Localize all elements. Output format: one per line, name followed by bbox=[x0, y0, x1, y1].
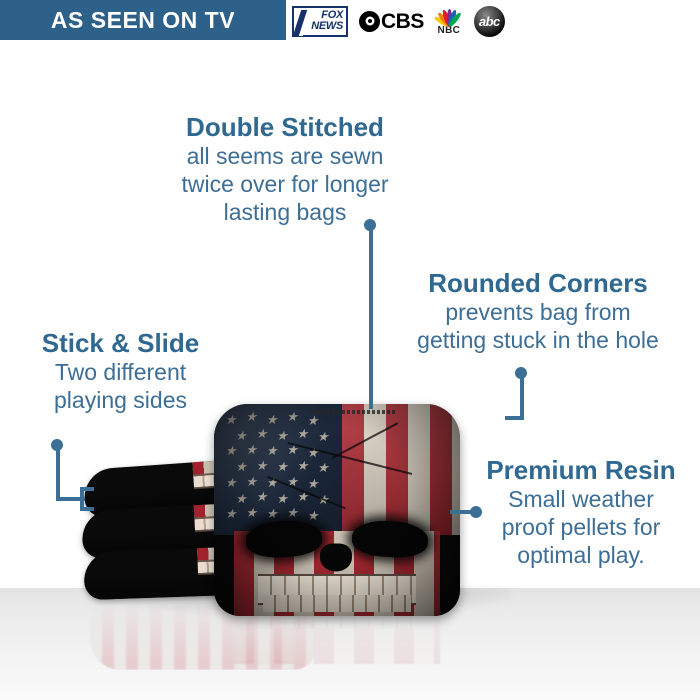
callout-stick-and-slide: Stick & Slide Two different playing side… bbox=[8, 328, 233, 414]
skull-lower-teeth bbox=[263, 595, 411, 612]
callout-body: all seems are sewn twice over for longer… bbox=[140, 142, 430, 226]
callout-body-line: getting stuck in the hole bbox=[382, 326, 694, 354]
flag-stars bbox=[214, 404, 342, 535]
callout-body-line: lasting bags bbox=[140, 198, 430, 226]
leader-segment bbox=[520, 375, 524, 420]
main-cornhole-bag bbox=[214, 404, 460, 616]
callout-heading: Premium Resin bbox=[465, 455, 697, 485]
bag-top-print bbox=[312, 410, 396, 414]
callout-body: prevents bag from getting stuck in the h… bbox=[382, 298, 694, 354]
callout-body-line: prevents bag from bbox=[382, 298, 694, 326]
leader-segment bbox=[56, 447, 60, 501]
skull-nose-cavity bbox=[320, 544, 352, 572]
leader-segment bbox=[505, 416, 523, 420]
leader-bracket-segment bbox=[80, 487, 94, 491]
callout-heading: Rounded Corners bbox=[382, 268, 694, 298]
flag-star-field bbox=[214, 404, 342, 535]
callout-body: Small weather proof pellets for optimal … bbox=[465, 485, 697, 569]
callout-premium-resin: Premium Resin Small weather proof pellet… bbox=[465, 455, 697, 569]
callout-double-stitched: Double Stitched all seems are sewn twice… bbox=[140, 112, 430, 226]
leader-dot bbox=[470, 506, 482, 518]
product-infographic: AS SEEN ON TV FOX NEWS CBS NBC abc bbox=[0, 0, 700, 700]
callout-body-line: proof pellets for bbox=[465, 513, 697, 541]
callout-body-line: twice over for longer bbox=[140, 170, 430, 198]
leader-segment bbox=[369, 227, 373, 409]
callout-body-line: optimal play. bbox=[465, 541, 697, 569]
callout-heading: Double Stitched bbox=[140, 112, 430, 142]
callout-heading: Stick & Slide bbox=[8, 328, 233, 358]
leader-bracket-segment bbox=[80, 507, 94, 511]
callout-body-line: playing sides bbox=[8, 386, 233, 414]
callout-rounded-corners: Rounded Corners prevents bag from gettin… bbox=[382, 268, 694, 354]
callout-body-line: all seems are sewn bbox=[140, 142, 430, 170]
callout-body-line: Small weather bbox=[465, 485, 697, 513]
callout-body-line: Two different bbox=[8, 358, 233, 386]
callout-body: Two different playing sides bbox=[8, 358, 233, 414]
